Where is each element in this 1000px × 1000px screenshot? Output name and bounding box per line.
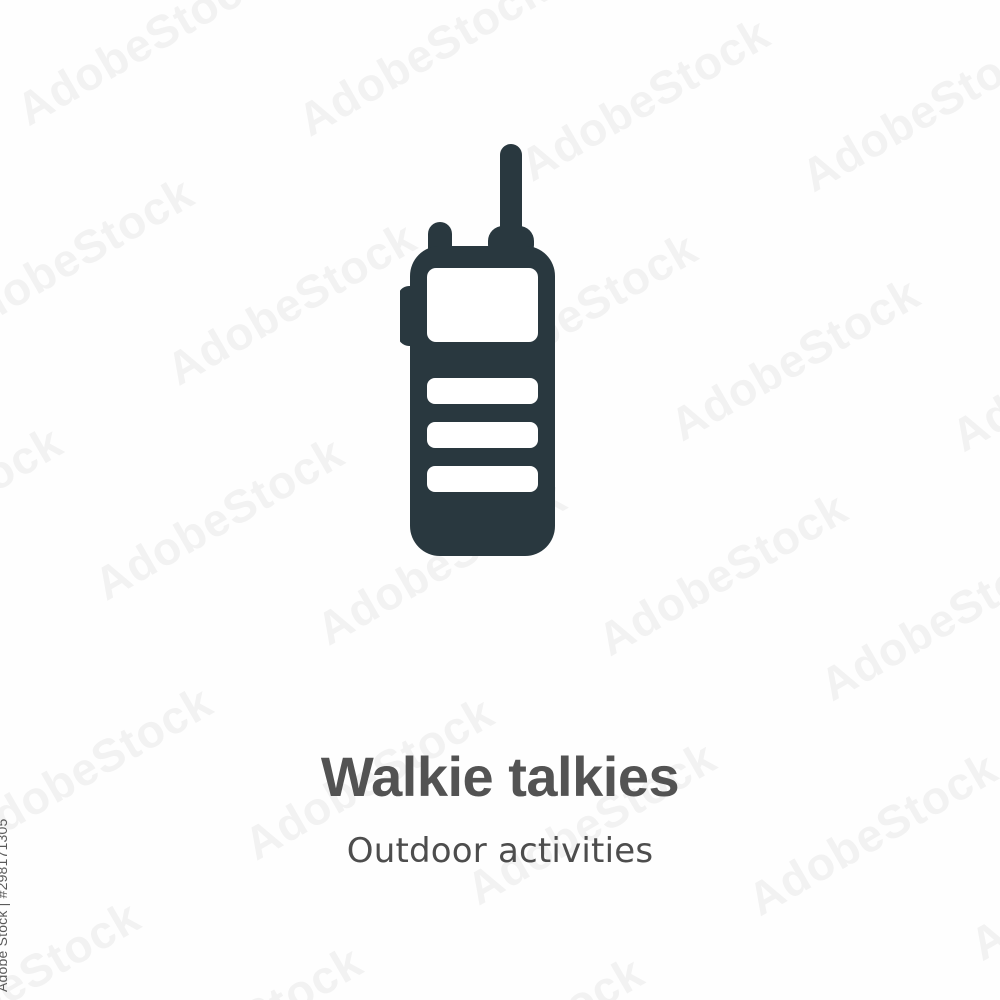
walkie-talkie-icon (400, 140, 600, 560)
watermark-text: AdobeStock (385, 945, 652, 1000)
stock-credit: Adobe Stock | #298171305 (0, 0, 46, 1000)
keypad-bar-3 (427, 466, 538, 492)
caption-block: Walkie talkies Outdoor activities (0, 748, 1000, 870)
stock-image-canvas: AdobeStockAdobeStockAdobeStockAdobeStock… (0, 0, 1000, 1000)
icon-container (0, 0, 1000, 700)
icon-category-subtitle: Outdoor activities (0, 807, 1000, 870)
keypad-bar-1 (427, 378, 538, 404)
stock-credit-text: Adobe Stock | #298171305 (0, 819, 10, 992)
watermark-text: AdobeStock (608, 990, 875, 1000)
keypad-bar-2 (427, 422, 538, 448)
display-screen (427, 268, 538, 342)
watermark-text: AdobeStock (104, 935, 371, 1000)
icon-title: Walkie talkies (0, 748, 1000, 807)
